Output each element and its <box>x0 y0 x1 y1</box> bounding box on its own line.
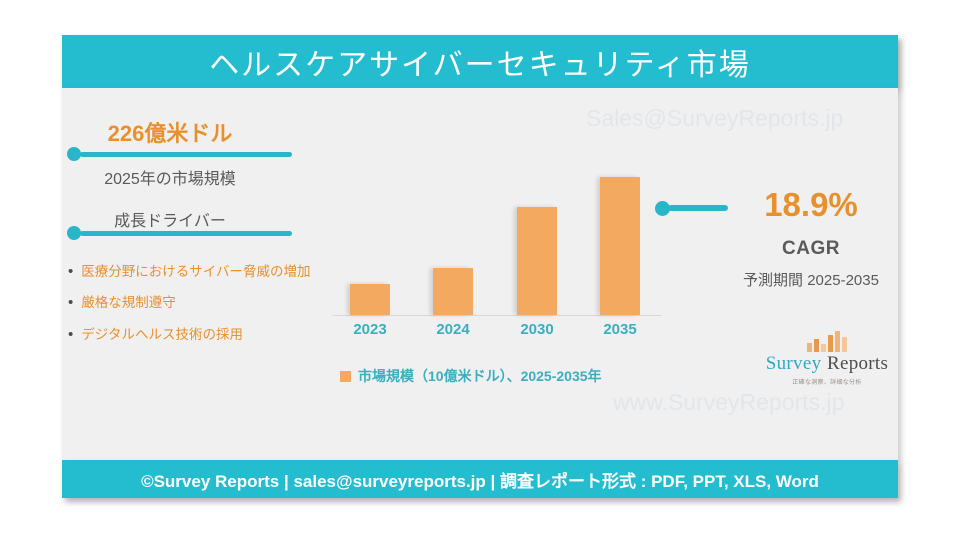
footer-banner: ©Survey Reports | sales@surveyreports.jp… <box>62 460 898 498</box>
growth-drivers-list: • 医療分野におけるサイバー脅威の増加 • 厳格な規制遵守 • デジタルヘルス技… <box>68 262 330 356</box>
x-axis-label-2035: 2035 <box>585 321 655 338</box>
list-item-label: 医療分野におけるサイバー脅威の増加 <box>81 262 310 282</box>
footer-contact-text: ©Survey Reports | sales@surveyreports.jp… <box>141 467 819 492</box>
rule-dot-bottom <box>67 226 81 240</box>
chart-legend: 市場規模（10億米ドル）、2025-2035年 <box>340 366 602 386</box>
bar-2035 <box>600 177 640 315</box>
cagr-value: 18.9% <box>716 186 906 224</box>
logo-word-survey: Survey <box>766 353 822 374</box>
list-item: • デジタルヘルス技術の採用 <box>68 325 330 345</box>
rule-line-bottom <box>80 231 292 236</box>
logo-word-reports: Reports <box>827 353 888 374</box>
growth-drivers-heading: 成長ドライバー <box>48 207 292 231</box>
company-logo: Survey Reports 正確な洞察、詳細な分析 <box>748 330 906 386</box>
bullet-icon: • <box>68 325 73 345</box>
chart-baseline <box>332 315 662 316</box>
list-item-label: 厳格な規制遵守 <box>81 293 176 313</box>
bullet-icon: • <box>68 262 73 282</box>
list-item-label: デジタルヘルス技術の採用 <box>81 325 243 345</box>
list-item: • 厳格な規制遵守 <box>68 293 330 313</box>
x-axis-label-2030: 2030 <box>502 321 572 338</box>
market-size-value: 226億米ドル <box>55 116 285 148</box>
x-axis-label-2023: 2023 <box>335 321 405 338</box>
legend-label: 市場規模（10億米ドル）、2025-2035年 <box>358 366 602 386</box>
x-axis-label-2024: 2024 <box>418 321 488 338</box>
title-banner: ヘルスケアサイバーセキュリティ市場 <box>62 35 898 88</box>
bullet-icon: • <box>68 293 73 313</box>
market-size-caption: 2025年の市場規模 <box>48 165 292 189</box>
cagr-forecast-period: 予測期間 2025-2035 <box>706 269 916 290</box>
legend-swatch-icon <box>340 371 351 382</box>
bar-2023 <box>350 284 390 315</box>
list-item: • 医療分野におけるサイバー脅威の増加 <box>68 262 330 282</box>
bar-2030 <box>517 207 557 315</box>
cagr-label: CAGR <box>716 238 906 260</box>
logo-wordmark: Survey Reports <box>748 353 906 375</box>
logo-tagline: 正確な洞察、詳細な分析 <box>748 377 906 386</box>
bar-chart-icon <box>806 330 848 352</box>
bar-2024 <box>433 268 473 315</box>
page-title: ヘルスケアサイバーセキュリティ市場 <box>209 40 751 84</box>
rule-dot-top <box>67 147 81 161</box>
rule-line-top <box>80 152 292 157</box>
